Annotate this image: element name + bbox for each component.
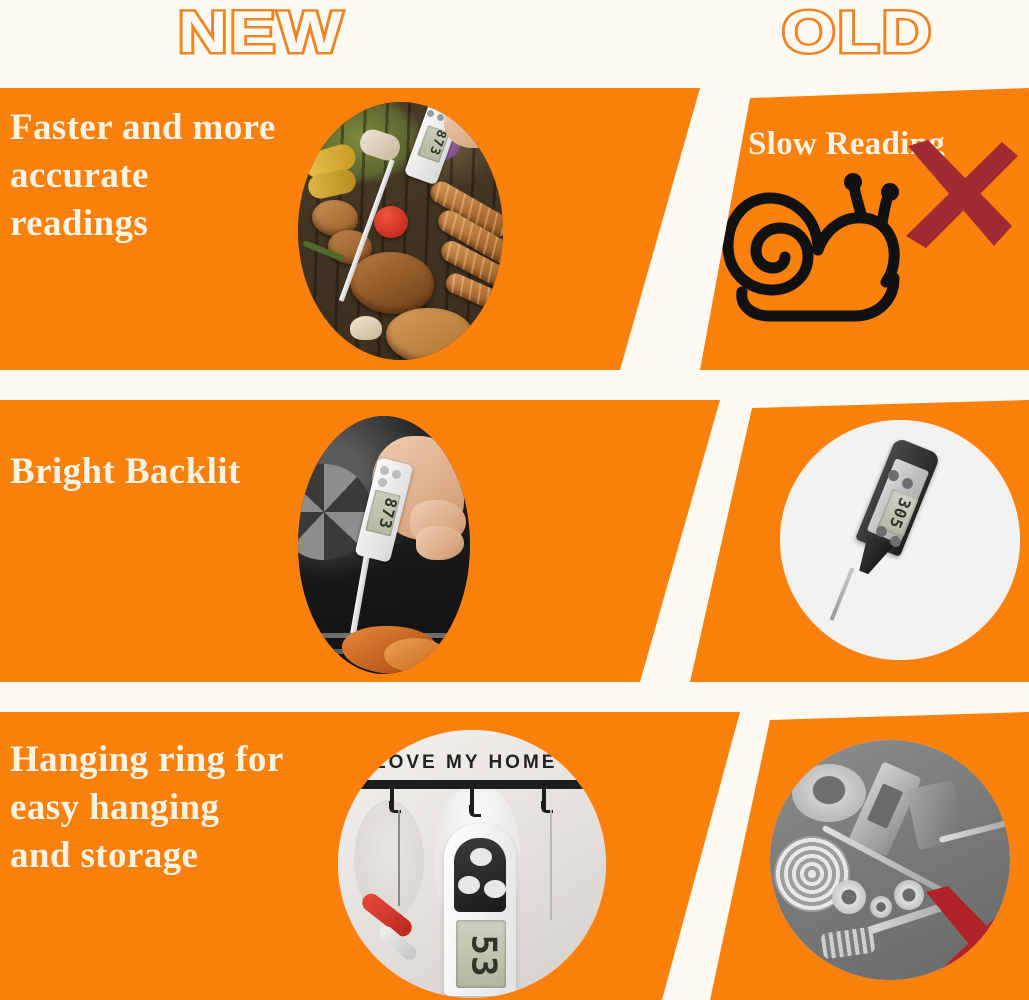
panel-new-row-2: Bright Backlit 873	[0, 400, 720, 682]
feature-line: Hanging ring for	[10, 736, 360, 784]
header-old: OLD	[782, 4, 934, 62]
panel-old-row-2: 305	[690, 400, 1029, 682]
feature-text-row-3: Hanging ring for easy hanging and storag…	[10, 736, 360, 880]
red-x-mark-row-3	[918, 886, 1010, 980]
panel-new-row-1: Faster and more accurate readings	[0, 88, 700, 370]
cluttered-drawer-photo	[770, 740, 1010, 980]
hanging-rack-photo: LOVE MY HOME 53	[338, 730, 606, 998]
old-thermometer-photo: 305	[780, 420, 1020, 660]
feature-line: easy hanging	[10, 784, 360, 832]
feature-line: and storage	[10, 832, 360, 880]
rack-label: LOVE MY HOME	[374, 752, 557, 774]
hanging-lcd-value: 53	[463, 935, 503, 978]
panel-old-row-1: Slow Reading	[700, 88, 1029, 370]
panel-old-row-3	[710, 712, 1029, 1000]
backlit-thermometer-photo: 873	[298, 416, 470, 674]
panel-new-row-3: Hanging ring for easy hanging and storag…	[0, 712, 740, 1000]
infographic-canvas: NEW OLD Faster and more accurate reading…	[0, 0, 1029, 1000]
snail-icon	[722, 166, 922, 326]
header-new: NEW	[178, 4, 345, 62]
feature-text-row-2: Bright Backlit	[10, 448, 340, 496]
grilled-food-photo: 873	[298, 102, 503, 360]
red-x-mark-row-1	[898, 140, 1018, 252]
red-x-mark-row-2	[1008, 562, 1020, 660]
feature-line: Bright Backlit	[10, 448, 340, 496]
